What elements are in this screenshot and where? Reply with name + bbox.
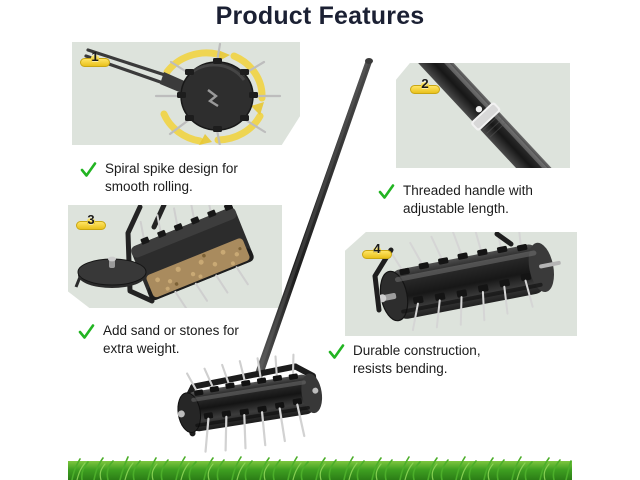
grass-strip [68,452,572,480]
green-check-icon [80,161,97,180]
feature-caption-text: Durable construction, resists bending. [353,342,481,377]
green-check-icon [328,343,345,362]
feature-caption-1: Spiral spike design for smooth rolling. [80,160,295,195]
feature-caption-2: Threaded handle with adjustable length. [378,182,578,217]
spike-aerator-roller-product-photo [0,0,640,480]
feature-caption-text: Threaded handle with adjustable length. [403,182,533,217]
feature-caption-4: Durable construction, resists bending. [328,342,543,377]
feature-caption-text: Spiral spike design for smooth rolling. [105,160,238,195]
feature-caption-3: Add sand or stones for extra weight. [78,322,293,357]
infographic-canvas: Product Features [0,0,640,480]
green-check-icon [378,183,395,202]
green-check-icon [78,323,95,342]
feature-caption-text: Add sand or stones for extra weight. [103,322,239,357]
spiked-roller-drum [171,349,328,458]
